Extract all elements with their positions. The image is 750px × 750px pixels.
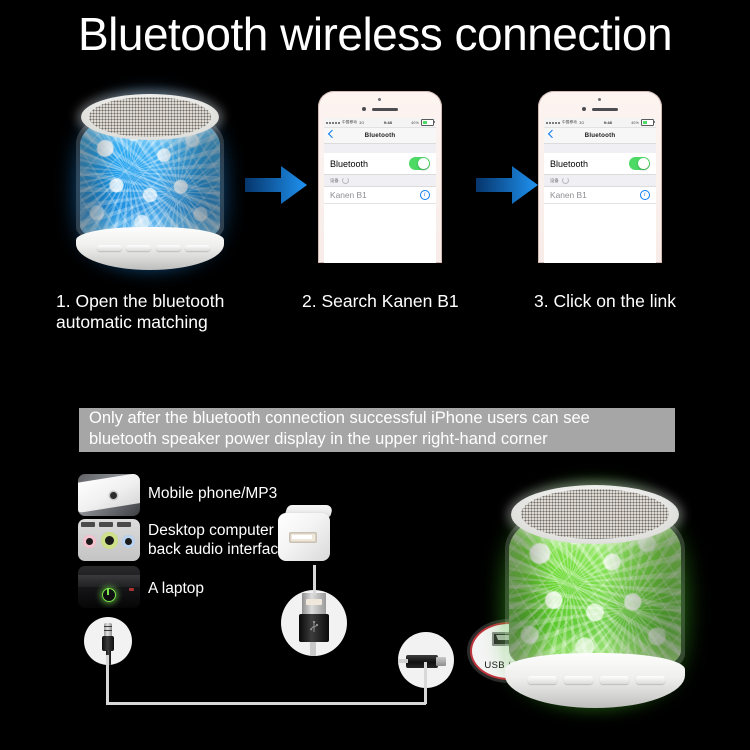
step-2-caption: 2. Search Kanen B1 [302, 291, 522, 312]
step-1-caption: 1. Open the bluetooth automatic matching [56, 291, 286, 334]
status-time-3: 9:48 [604, 120, 612, 125]
phone-screen-step2: 中国移动 3G 9:48 40% Bluetooth Bluetooth 设备 [324, 118, 436, 263]
banner-line-2: bluetooth speaker power display in the u… [89, 429, 665, 450]
usb-a-connector [281, 590, 347, 656]
speaker-button-play[interactable] [156, 245, 181, 251]
info-circle-icon-3[interactable]: i [640, 190, 651, 201]
bluetooth-toggle-row-3[interactable]: Bluetooth [544, 153, 656, 175]
phone-earpiece-3 [592, 108, 618, 111]
green-led-speaker [497, 480, 693, 708]
phone-earpiece [372, 108, 398, 111]
signal-dots-icon [326, 122, 340, 124]
usb-wall-charger [276, 505, 340, 567]
info-banner: Only after the bluetooth connection succ… [79, 408, 675, 452]
step-3-caption-line1: 3. Click on the link [534, 291, 744, 312]
green-speaker-button-prev[interactable] [564, 676, 593, 684]
phone-front-sensor-3 [598, 98, 601, 101]
blue-led-speaker [70, 90, 230, 270]
phone-front-sensor [378, 98, 381, 101]
battery-icon-3 [641, 119, 654, 126]
laptop-thumbnail [78, 566, 140, 608]
devices-section-label-3: 设备 [550, 178, 559, 184]
battery-percent-label-3: 40% [631, 121, 639, 125]
loading-spinner-icon-3 [562, 177, 569, 184]
page-title: Bluetooth wireless connection [0, 10, 750, 58]
right-arrow-icon-2 [474, 162, 540, 208]
green-speaker-button-mode[interactable] [528, 676, 557, 684]
banner-line-1: Only after the bluetooth connection succ… [89, 408, 665, 429]
step-2-caption-line1: 2. Search Kanen B1 [302, 291, 522, 312]
carrier-label-3: 中国移动 [562, 120, 577, 125]
device-name: Kanen B1 [330, 190, 367, 200]
bluetooth-toggle-3[interactable] [629, 157, 650, 170]
bluetooth-toggle[interactable] [409, 157, 430, 170]
chevron-left-icon-3[interactable] [548, 130, 556, 138]
network-label-3: 3G [579, 121, 584, 125]
nav-bar: Bluetooth [324, 128, 436, 144]
speaker-mesh [89, 97, 210, 136]
device-row-kanen-b1[interactable]: Kanen B1 i [324, 187, 436, 204]
chevron-left-icon[interactable] [328, 130, 336, 138]
devices-section-header: 设备 [324, 175, 436, 187]
green-speaker-button-play[interactable] [600, 676, 629, 684]
step-1-caption-line1: 1. Open the bluetooth [56, 291, 286, 312]
screen-gap [324, 144, 436, 153]
iphone-step2: 中国移动 3G 9:48 40% Bluetooth Bluetooth 设备 [318, 91, 442, 263]
desktop-audio-jacks-thumbnail [78, 519, 140, 561]
right-arrow-icon [243, 162, 309, 208]
network-label: 3G [359, 121, 364, 125]
bluetooth-label: Bluetooth [330, 159, 368, 169]
nav-title: Bluetooth [365, 132, 396, 139]
infographic-page: Bluetooth wireless connection [0, 0, 750, 750]
device-name-3: Kanen B1 [550, 190, 587, 200]
signal-dots-icon-3 [546, 122, 560, 124]
iphone-step3: 中国移动 3G 9:48 40% Bluetooth Bluetooth 设备 [538, 91, 662, 263]
step-3-caption: 3. Click on the link [534, 291, 744, 312]
devices-section-header-3: 设备 [544, 175, 656, 187]
status-time: 9:48 [384, 120, 392, 125]
status-bar: 中国移动 3G 9:48 40% [324, 118, 436, 128]
speaker-base [76, 227, 223, 270]
status-bar-3: 中国移动 3G 9:48 40% [544, 118, 656, 128]
source-label-1-line1: Mobile phone/MP3 [148, 485, 348, 504]
usb-connector-inset [281, 590, 347, 656]
source-label-1: Mobile phone/MP3 [148, 485, 348, 504]
green-speaker-grille-top [511, 485, 680, 544]
green-speaker-mesh [521, 489, 669, 539]
phone-screen-step3: 中国移动 3G 9:48 40% Bluetooth Bluetooth 设备 [544, 118, 656, 263]
step-1-caption-line2: automatic matching [56, 312, 286, 333]
devices-section-label: 设备 [330, 178, 339, 184]
phone-front-camera-icon-3 [582, 107, 586, 111]
screen-gap-3 [544, 144, 656, 153]
phone-front-camera-icon [362, 107, 366, 111]
nav-bar-3: Bluetooth [544, 128, 656, 144]
info-circle-icon[interactable]: i [420, 190, 431, 201]
device-row-kanen-b1-3[interactable]: Kanen B1 i [544, 187, 656, 204]
screen-empty-area-3 [544, 204, 656, 263]
speaker-button-prev[interactable] [126, 245, 151, 251]
cable-vertical-right [424, 662, 427, 704]
screen-empty-area [324, 204, 436, 263]
cable-vertical-left [106, 655, 109, 705]
speaker-button-mode[interactable] [97, 245, 122, 251]
speaker-grille-top [81, 94, 219, 141]
loading-spinner-icon [342, 177, 349, 184]
green-speaker-base [505, 653, 685, 708]
nav-title-3: Bluetooth [585, 132, 616, 139]
bluetooth-label-3: Bluetooth [550, 159, 588, 169]
speaker-button-next[interactable] [185, 245, 210, 251]
cable-to-charger [313, 565, 316, 595]
battery-percent-label: 40% [411, 121, 419, 125]
mobile-phone-thumbnail [78, 474, 140, 516]
cable-horizontal [106, 702, 426, 705]
bluetooth-toggle-row[interactable]: Bluetooth [324, 153, 436, 175]
green-speaker-button-next[interactable] [636, 676, 665, 684]
carrier-label: 中国移动 [342, 120, 357, 125]
battery-icon [421, 119, 434, 126]
